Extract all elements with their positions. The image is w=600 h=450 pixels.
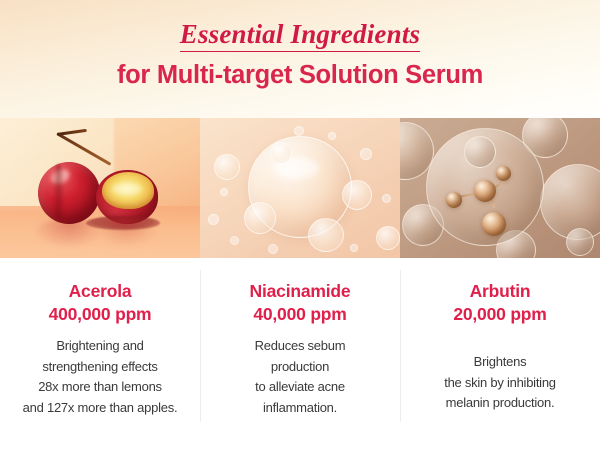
molecule-atom <box>482 212 506 236</box>
page-subtitle: for Multi-target Solution Serum <box>0 61 600 89</box>
ingredient-name: Niacinamide <box>210 280 390 303</box>
description-line: Brightening and <box>10 336 190 357</box>
bubble <box>308 218 344 252</box>
ingredients-infographic: Essential Ingredients for Multi-target S… <box>0 0 600 450</box>
serum-bubble-photo <box>200 118 400 258</box>
header-banner: Essential Ingredients for Multi-target S… <box>0 0 600 118</box>
bubble <box>244 202 276 234</box>
bubble <box>464 136 496 168</box>
ingredient-description: Reduces sebum production to alleviate ac… <box>210 336 390 418</box>
description-line: inflammation. <box>210 398 390 419</box>
description-line: the skin by inhibiting <box>410 373 590 394</box>
description-line: Brightens <box>410 352 590 373</box>
cherry-flesh <box>102 172 154 209</box>
micro-droplet <box>382 194 391 203</box>
molecule-atom <box>474 180 496 202</box>
micro-droplet <box>220 188 228 196</box>
description-line: 28x more than lemons <box>10 377 190 398</box>
bubble <box>342 180 372 210</box>
ingredient-name: Arbutin <box>410 280 590 303</box>
micro-droplet <box>208 214 219 225</box>
micro-droplet <box>350 244 358 252</box>
cherry-crease <box>52 164 65 220</box>
description-line: to alleviate acne <box>210 377 390 398</box>
micro-droplet <box>360 148 372 160</box>
description-line: and 127x more than apples. <box>10 398 190 419</box>
micro-droplet <box>294 126 304 136</box>
whole-cherry <box>38 162 100 224</box>
cherry-juice-puddle <box>86 216 160 230</box>
ingredient-concentration: 400,000 ppm <box>10 303 190 326</box>
photo-strip <box>0 118 600 258</box>
ingredient-columns: Acerola 400,000 ppm Brightening and stre… <box>0 258 600 450</box>
ingredient-column-acerola: Acerola 400,000 ppm Brightening and stre… <box>0 258 200 450</box>
description-line: melanin production. <box>410 393 590 414</box>
ingredient-description: Brightening and strengthening effects 28… <box>10 336 190 418</box>
bubble <box>540 164 600 240</box>
micro-droplet <box>268 244 278 254</box>
molecule-bubble-photo <box>400 118 600 258</box>
bubble <box>270 142 292 164</box>
page-title: Essential Ingredients <box>180 20 421 52</box>
molecule-atom <box>446 192 462 208</box>
bubble <box>566 228 594 256</box>
ingredient-description: Brightens the skin by inhibiting melanin… <box>410 352 590 414</box>
micro-droplet <box>230 236 239 245</box>
bubble <box>214 154 240 180</box>
description-line: strengthening effects <box>10 357 190 378</box>
bubble <box>376 226 400 250</box>
description-line: Reduces sebum <box>210 336 390 357</box>
ingredient-name: Acerola <box>10 280 190 303</box>
ingredient-concentration: 40,000 ppm <box>210 303 390 326</box>
ingredient-column-arbutin: Arbutin 20,000 ppm Brightens the skin by… <box>400 258 600 450</box>
molecule-atom <box>496 166 511 181</box>
ingredient-concentration: 20,000 ppm <box>410 303 590 326</box>
ingredient-column-niacinamide: Niacinamide 40,000 ppm Reduces sebum pro… <box>200 258 400 450</box>
description-line: production <box>210 357 390 378</box>
acerola-cherry-photo <box>0 118 200 258</box>
micro-droplet <box>328 132 336 140</box>
